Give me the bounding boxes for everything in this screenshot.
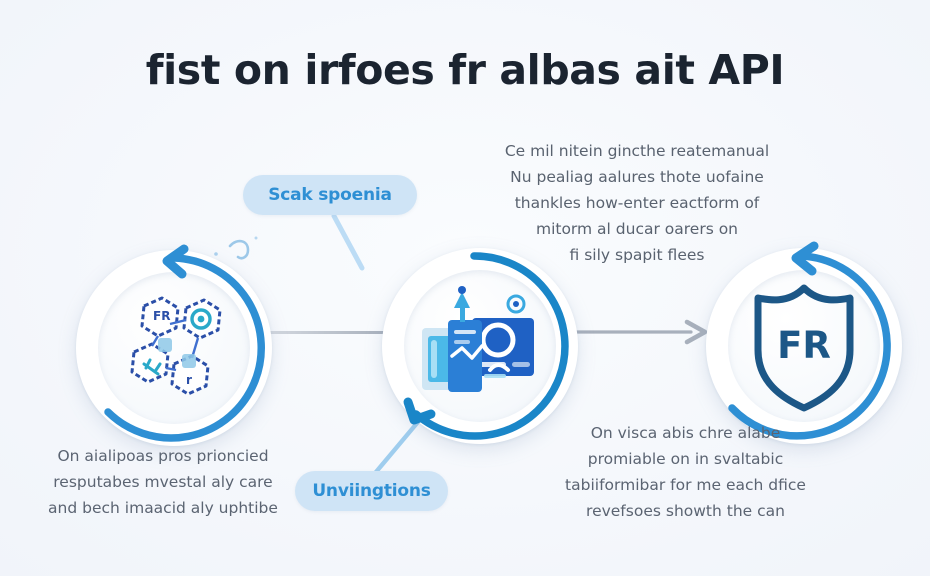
network-cluster-icon: FR r [98,272,250,424]
shield-icon: FR [728,270,880,422]
node-document-cards[interactable] [382,248,578,444]
page-title: fist on irfoes fr albas ait API [0,46,930,94]
svg-text:r: r [186,373,192,387]
infographic-canvas: fist on irfoes fr albas ait API Scak spo… [0,0,930,576]
paragraph-bottom-left: On aialipoas pros prioncied resputabes m… [18,443,308,521]
connector-left-to-center [268,331,386,334]
badge-unviingtions[interactable]: Unviingtions [295,471,448,511]
leader-line-top-badge [330,212,370,274]
svg-text:FR: FR [153,309,170,323]
paragraph-top-right: Ce mil nitein gincthe reatemanual Nu pea… [472,138,802,268]
badge-scak-spoenia[interactable]: Scak spoenia [243,175,417,215]
paragraph-bottom-right: On visca abis chre alabe promiable on in… [538,420,833,524]
node-network-cluster[interactable]: FR r [76,250,272,446]
connector-center-to-right [575,318,715,346]
shield-label: FR [777,324,831,367]
node-shield[interactable]: FR [706,248,902,444]
document-cards-icon [404,270,556,422]
